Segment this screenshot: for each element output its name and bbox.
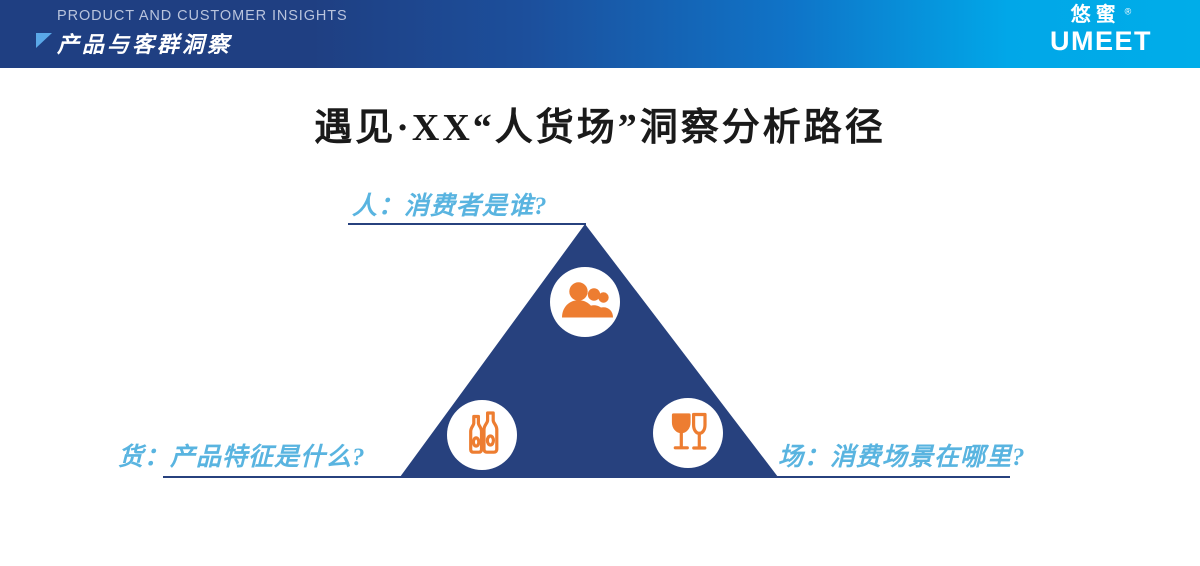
node-scene-circle [653,398,723,468]
node-person[interactable] [550,267,620,337]
rule-top [348,223,586,225]
label-scene: 场：消费场景在哪里? [778,437,1026,473]
header-section-title: 产品与客群洞察 [57,27,232,59]
bottles-icon [471,413,497,452]
triangle-marker-icon [36,33,52,48]
node-goods[interactable] [447,400,517,470]
node-scene[interactable] [653,398,723,468]
label-person: 人：消费者是谁? [352,186,548,222]
renhuochang-triangle-diagram [0,0,1200,566]
node-person-circle [550,267,620,337]
header-bar: PRODUCT AND CUSTOMER INSIGHTS 产品与客群洞察 悠蜜… [0,0,1200,68]
logo-brand-cn: 悠蜜® [1026,5,1176,25]
page-title: 遇见·XX“人货场”洞察分析路径 [0,96,1200,151]
node-goods-circle [447,400,517,470]
header-eyebrow-text: PRODUCT AND CUSTOMER INSIGHTS [57,8,348,24]
brand-logo[interactable]: 悠蜜® UMEET [1026,5,1176,55]
logo-brand-en: UMEET [1026,28,1176,55]
slide-canvas: PRODUCT AND CUSTOMER INSIGHTS 产品与客群洞察 悠蜜… [0,0,1200,566]
drink-glasses-icon [674,415,706,449]
triangle-shape [400,224,778,477]
people-group-icon [562,282,613,317]
rule-bottom [163,476,1010,478]
registered-trademark-icon: ® [1125,7,1132,17]
label-goods: 货：产品特征是什么? [118,437,366,473]
